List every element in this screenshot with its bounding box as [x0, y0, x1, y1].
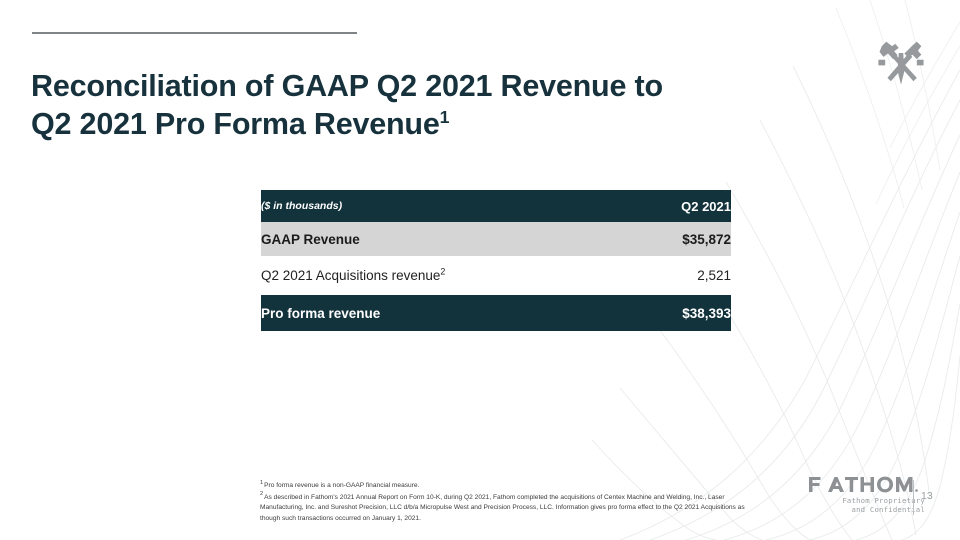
table-header-label: ($ in thousands): [261, 190, 496, 222]
footnotes-block: 1Pro forma revenue is a non-GAAP financi…: [260, 481, 760, 525]
footnote-2-text: As described in Fathom's 2021 Annual Rep…: [260, 494, 745, 522]
row-label-acquisitions-revenue-text: Q2 2021 Acquisitions revenue: [261, 268, 440, 283]
footnote-2: 2As described in Fathom's 2021 Annual Re…: [260, 493, 760, 525]
row-label-acquisitions-revenue: Q2 2021 Acquisitions revenue2: [261, 256, 496, 295]
gaap-reconciliation-table: ($ in thousands) Q2 2021 GAAP Revenue $3…: [261, 190, 731, 331]
row-value-acquisitions-revenue: 2,521: [496, 256, 731, 295]
row-label-footnote-marker: 2: [440, 267, 445, 277]
table-header-row: ($ in thousands) Q2 2021: [261, 190, 731, 222]
page-title: Reconciliation of GAAP Q2 2021 Revenue t…: [31, 67, 831, 143]
table-header-period: Q2 2021: [496, 190, 731, 222]
title-rule-divider: [32, 32, 357, 34]
fathom-tools-mark-icon: [872, 36, 930, 88]
footnote-1-text: Pro forma revenue is a non-GAAP financia…: [264, 482, 419, 489]
page-title-footnote-marker: 1: [440, 107, 450, 127]
row-label-pro-forma-revenue: Pro forma revenue: [261, 295, 496, 331]
brand-block: Fathom Proprietary and Confidential: [790, 476, 925, 515]
row-value-pro-forma-revenue: $38,393: [496, 295, 731, 331]
fathom-wordmark-icon: [809, 476, 925, 493]
row-label-gaap-revenue: GAAP Revenue: [261, 222, 496, 256]
footnote-1: 1Pro forma revenue is a non-GAAP financi…: [260, 481, 760, 492]
table-row: Q2 2021 Acquisitions revenue2 2,521: [261, 256, 731, 295]
page-number: 13: [921, 490, 933, 502]
slide-canvas: Reconciliation of GAAP Q2 2021 Revenue t…: [0, 0, 960, 540]
table-row: Pro forma revenue $38,393: [261, 295, 731, 331]
table-row: GAAP Revenue $35,872: [261, 222, 731, 256]
brand-tagline: Fathom Proprietary and Confidential: [790, 496, 925, 515]
brand-divider: [913, 480, 914, 515]
page-title-line2: Q2 2021 Pro Forma Revenue: [31, 107, 440, 141]
page-title-line1: Reconciliation of GAAP Q2 2021 Revenue t…: [31, 69, 663, 103]
row-value-gaap-revenue: $35,872: [496, 222, 731, 256]
